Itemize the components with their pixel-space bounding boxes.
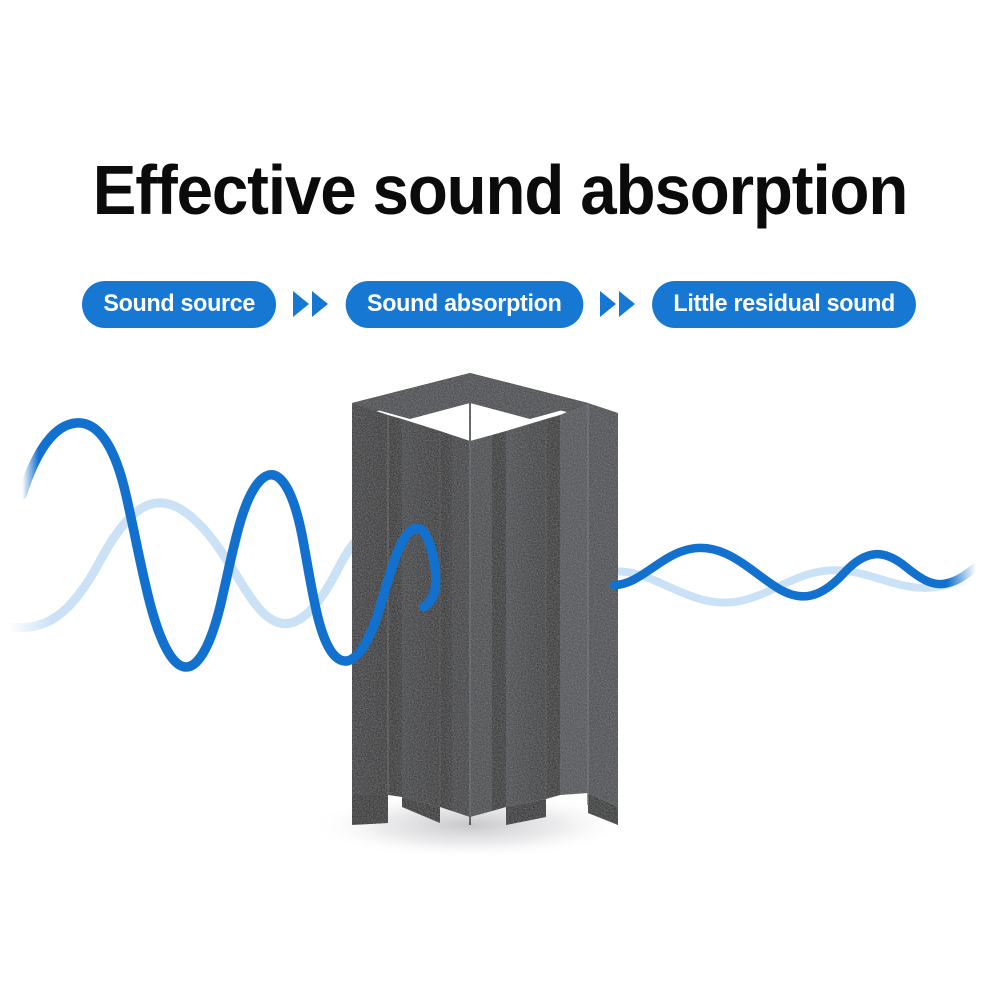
flow-step-little-residual-sound[interactable]: Little residual sound	[652, 281, 916, 328]
page-title: Effective sound absorption	[33, 152, 968, 228]
chevron-right-icon	[312, 291, 328, 317]
strong-wave-residual	[614, 548, 976, 597]
chevron-right-icon	[293, 291, 309, 317]
flow-steps: Sound source Sound absorption Little res…	[0, 279, 1000, 329]
chevron-right-icon	[619, 291, 635, 317]
flow-step-sound-source[interactable]: Sound source	[82, 281, 276, 328]
double-chevron-right-icon	[280, 286, 342, 322]
strong-wave-incoming	[22, 423, 436, 667]
flow-step-label: Sound source	[104, 290, 256, 318]
illustration-stage	[0, 355, 1000, 915]
sound-waves-front-layer	[0, 355, 1000, 915]
flow-step-label: Sound absorption	[367, 290, 562, 318]
double-chevron-right-icon	[586, 286, 648, 322]
flow-step-sound-absorption[interactable]: Sound absorption	[345, 281, 582, 328]
infographic-poster: Effective sound absorption Sound source …	[0, 0, 1000, 1000]
chevron-right-icon	[600, 291, 616, 317]
flow-step-label: Little residual sound	[674, 290, 896, 318]
